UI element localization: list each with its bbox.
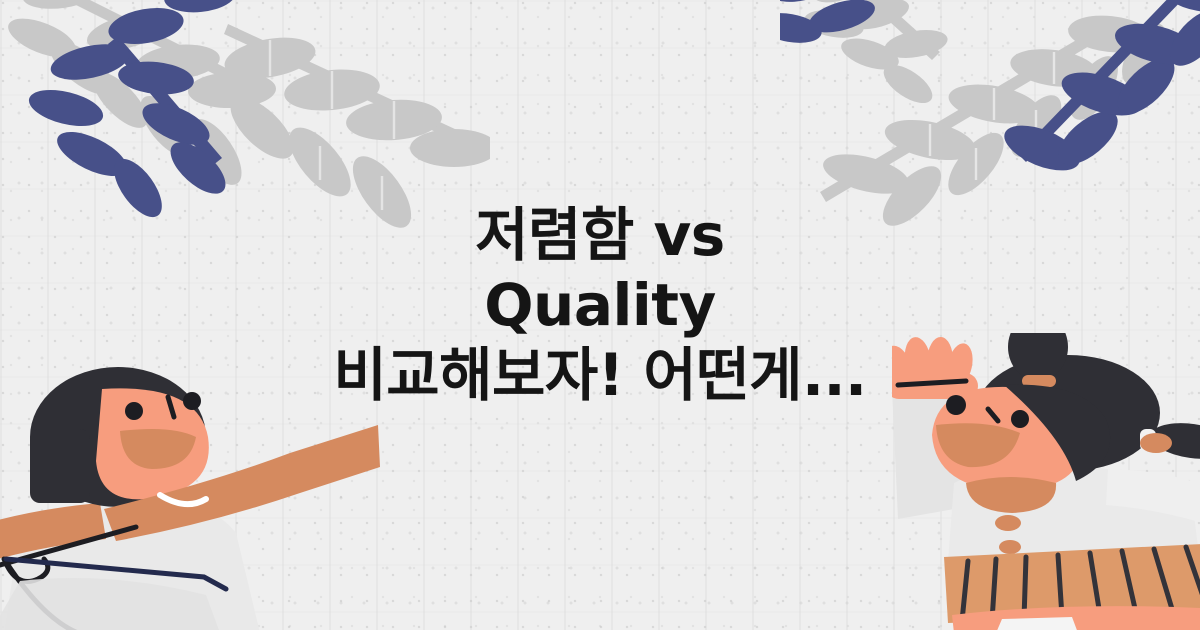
right-skirt-stripes <box>962 547 1200 621</box>
leaf-branch-top-right <box>780 0 1200 242</box>
title-line-2: Quality <box>0 270 1200 340</box>
title-line-3: 비교해보자! 어떤게... <box>0 340 1200 410</box>
right-button-2 <box>999 540 1021 554</box>
right-eye-1 <box>946 395 966 415</box>
left-shirt <box>4 499 260 630</box>
paper-square-texture <box>0 0 1200 630</box>
right-pigtail-tie <box>1140 429 1156 451</box>
paper-dot-texture <box>0 0 1200 630</box>
right-sleeve <box>1106 469 1200 529</box>
left-nose <box>168 397 174 417</box>
left-raised-arm <box>104 425 380 541</box>
right-eye-2 <box>1011 410 1029 428</box>
right-pigtail <box>1148 418 1200 463</box>
left-eye-1 <box>125 402 143 420</box>
right-sock <box>996 617 1078 630</box>
leaf-branch-navy-front-right <box>780 0 1200 180</box>
right-fringe <box>1004 385 1110 481</box>
leaf-branch-gray-veins <box>270 40 394 210</box>
right-button-1 <box>995 515 1021 531</box>
right-hand-line <box>898 381 966 385</box>
left-face <box>96 388 209 499</box>
leaf-branch-gray-back-right <box>802 0 1175 235</box>
left-leg-outline-2 <box>8 565 78 630</box>
left-waist-line <box>6 559 226 589</box>
right-skirt <box>944 543 1200 623</box>
left-sleeve-line <box>0 527 136 565</box>
title-line-1: 저렴함 vs <box>0 200 1200 270</box>
leaf-branch-top-left <box>0 0 490 240</box>
right-hair-bun <box>1008 333 1068 381</box>
right-nose <box>988 409 998 421</box>
right-face <box>932 387 1082 491</box>
left-back-arm <box>0 503 106 567</box>
right-raised-sleeve <box>892 383 988 519</box>
left-hair <box>30 367 206 507</box>
left-leg-outline <box>4 559 48 582</box>
character-right <box>892 333 1200 630</box>
right-top <box>946 461 1200 587</box>
right-legs <box>952 606 1200 630</box>
left-mouth <box>120 429 196 469</box>
thumbnail-canvas: 저렴함 vs Quality 비교해보자! 어떤게... <box>0 0 1200 630</box>
left-eye-2 <box>183 392 201 410</box>
character-left <box>0 333 380 630</box>
right-hair <box>976 355 1160 471</box>
right-bun-tie <box>1022 375 1056 387</box>
left-collar <box>160 495 206 504</box>
right-waving-hand <box>892 335 978 399</box>
leaf-branch-navy-front <box>25 0 237 225</box>
left-shadow <box>0 578 220 630</box>
right-mouth <box>936 423 1020 467</box>
right-neck <box>966 477 1056 513</box>
page-title: 저렴함 vs Quality 비교해보자! 어떤게... <box>0 200 1200 410</box>
leaf-branch-gray-veins-right <box>930 52 1054 180</box>
leaf-branch-gray-back <box>3 0 490 237</box>
